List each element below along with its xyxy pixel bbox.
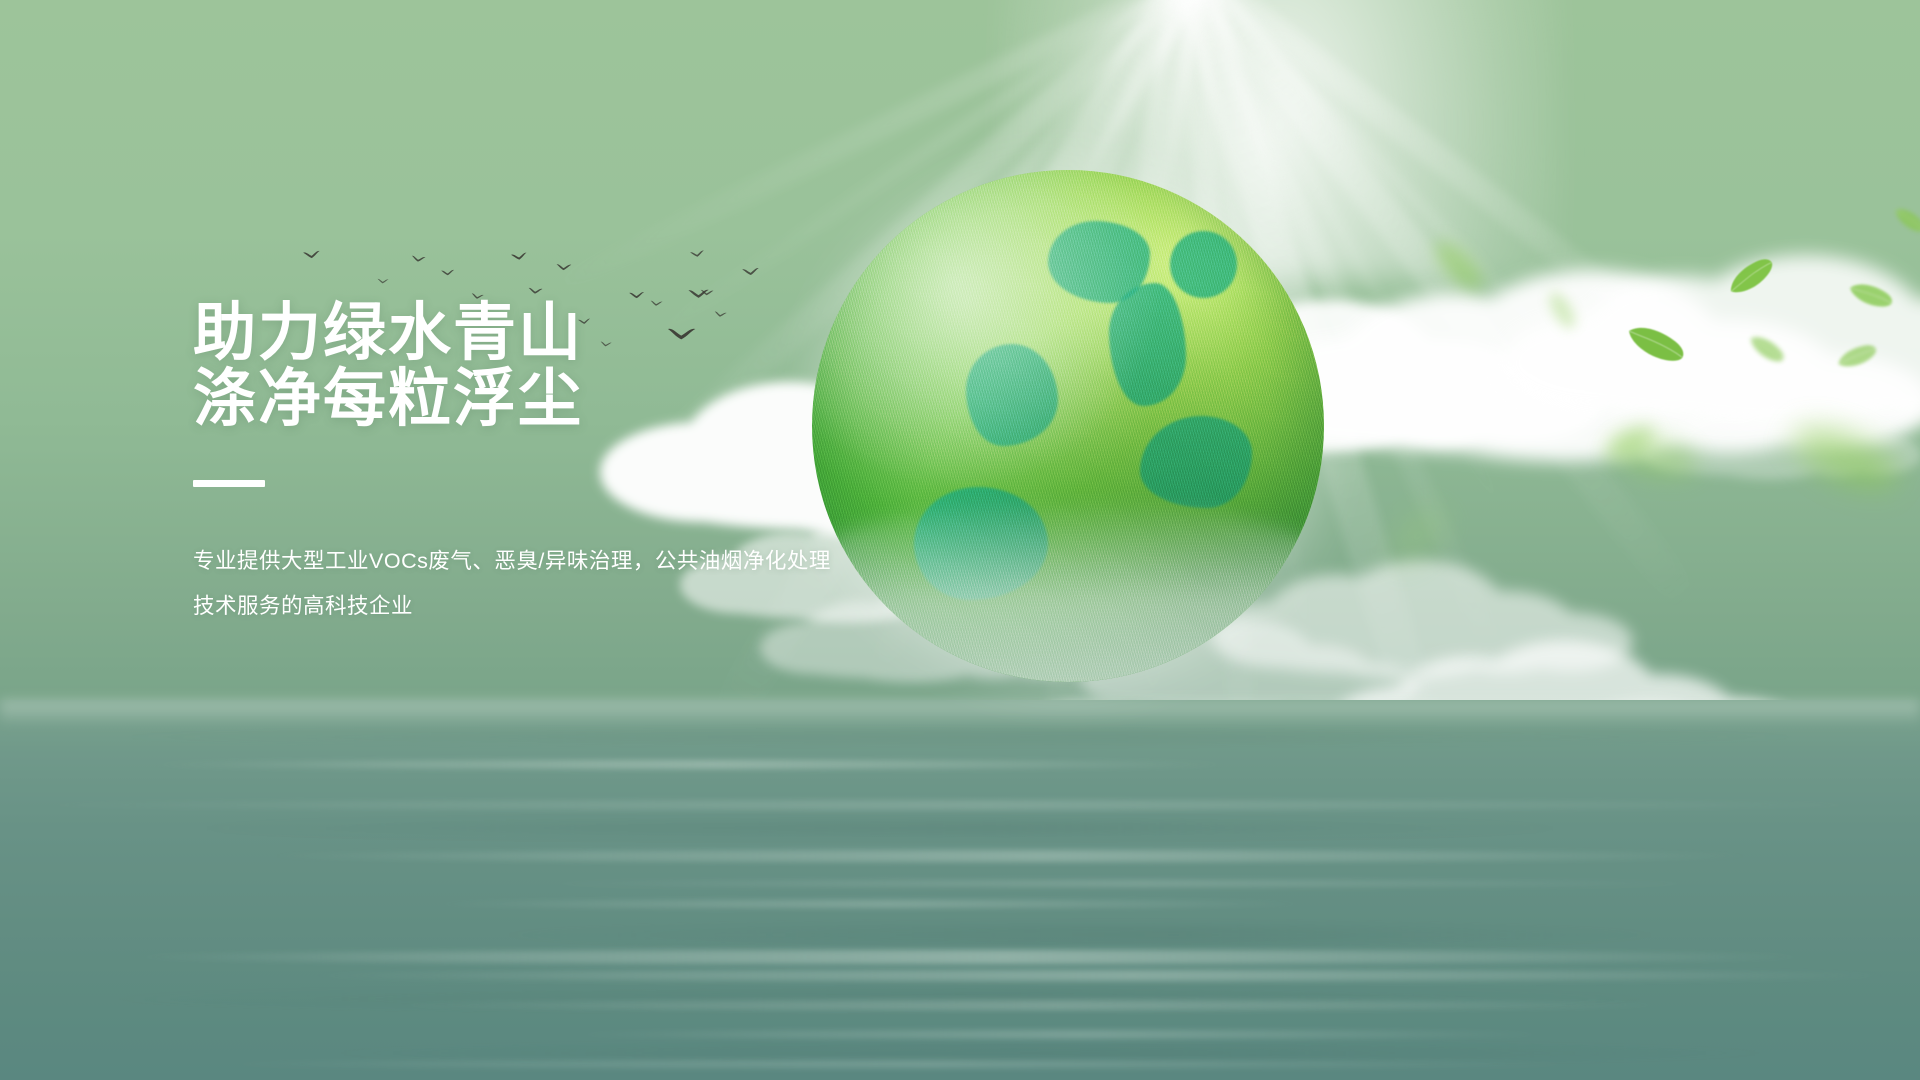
hero-subcopy: 专业提供大型工业VOCs废气、恶臭/异味治理，公共油烟净化处理技术服务的高科技企… — [193, 539, 833, 629]
bird-icon — [742, 266, 761, 279]
bird-icon — [441, 269, 456, 279]
bird-icon — [377, 278, 389, 286]
water-ripple-shadow — [80, 990, 1680, 1008]
headline-line-2: 涤净每粒浮尘 — [193, 366, 953, 432]
water-surface — [0, 700, 1920, 1080]
bird-icon — [302, 249, 321, 262]
water-ripple-shadow — [180, 820, 1580, 836]
bird-icon — [411, 254, 427, 265]
water-horizon-line — [0, 700, 1920, 726]
water-ripple-shadow — [480, 925, 1680, 945]
water-ripple — [120, 950, 1820, 964]
bird-icon — [528, 286, 544, 296]
headline-line-1: 助力绿水青山 — [193, 300, 953, 366]
cloud-puff — [1390, 582, 1498, 663]
continent-shape — [1170, 231, 1237, 298]
water-ripple — [300, 970, 1900, 981]
hero-copy: 助力绿水青山 涤净每粒浮尘 专业提供大型工业VOCs废气、恶臭/异味治理，公共油… — [193, 300, 953, 629]
water-ripple — [200, 1060, 1600, 1068]
bird-icon — [556, 263, 572, 273]
continent-shape — [1109, 283, 1186, 406]
continent-shape — [1140, 416, 1253, 508]
continent-shape — [966, 344, 1058, 446]
water-ripple — [0, 800, 1900, 810]
water-ripple — [520, 880, 1720, 887]
water-ripple — [140, 760, 1240, 769]
cloud-puff — [1760, 286, 1916, 403]
page-title: 助力绿水青山 涤净每粒浮尘 — [193, 300, 953, 432]
title-divider — [193, 480, 265, 487]
water-ripple — [560, 1030, 1560, 1039]
water-ripple — [420, 900, 1320, 908]
hero-banner: 助力绿水青山 涤净每粒浮尘 专业提供大型工业VOCs废气、恶臭/异味治理，公共油… — [0, 0, 1920, 1080]
water-ripple-shadow — [300, 1045, 1800, 1061]
water-ripple — [260, 850, 1760, 862]
water-ripple-shadow — [60, 730, 1860, 744]
continent-shape — [1048, 221, 1150, 303]
